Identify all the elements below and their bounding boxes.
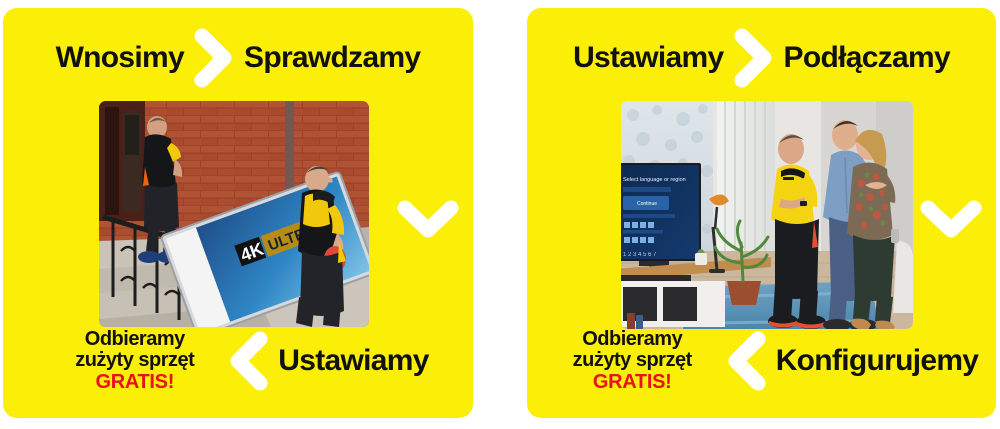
panel-left-top-row: Wnosimy Sprawdzamy	[3, 30, 473, 86]
svg-text:Continue: Continue	[637, 201, 657, 207]
step-label-ustawiamy-top: Ustawiamy	[573, 43, 723, 73]
pickup-line-1: Odbieramy	[47, 329, 222, 351]
svg-text:1 2 3 4 5 6 7: 1 2 3 4 5 6 7	[623, 252, 657, 258]
free-pickup-note: Odbieramy zużyty sprzęt GRATIS!	[47, 329, 222, 394]
step-label-konfigurujemy: Konfigurujemy	[776, 346, 979, 376]
chevron-left-icon	[724, 331, 772, 391]
service-panel-left: Wnosimy Sprawdzamy	[3, 8, 473, 418]
pickup-line-2: zużyty sprzęt	[47, 350, 222, 372]
pickup-line-2: zużyty sprzęt	[545, 350, 720, 372]
service-panel-right: Ustawiamy Podłączamy	[527, 8, 996, 418]
service-steps-banner: Wnosimy Sprawdzamy	[0, 0, 1000, 429]
photo-technician-configuring-tv: Select language or region Continue 1 2 3…	[621, 101, 913, 329]
chevron-left-icon	[226, 331, 274, 391]
step-label-wnosimy: Wnosimy	[56, 43, 184, 73]
pickup-line-1: Odbieramy	[545, 329, 720, 351]
svg-text:Select language or region: Select language or region	[623, 177, 686, 183]
step-label-podlaczamy: Podłączamy	[784, 43, 950, 73]
step-label-ustawiamy: Ustawiamy	[278, 346, 428, 376]
chevron-right-icon	[730, 28, 778, 88]
pickup-free-badge: GRATIS!	[545, 372, 720, 394]
chevron-right-icon	[190, 28, 238, 88]
photo-delivery-carrying-tv: 4K ULTRAHD	[99, 101, 369, 327]
chevron-down-icon	[916, 196, 986, 246]
panel-right-bottom-row: Odbieramy zużyty sprzęt GRATIS! Konfigur…	[527, 318, 996, 404]
pickup-free-badge: GRATIS!	[47, 372, 222, 394]
free-pickup-note: Odbieramy zużyty sprzęt GRATIS!	[545, 329, 720, 394]
step-label-sprawdzamy: Sprawdzamy	[244, 43, 420, 73]
panel-right-top-row: Ustawiamy Podłączamy	[527, 30, 996, 86]
chevron-down-icon	[393, 196, 463, 246]
panel-left-bottom-row: Odbieramy zużyty sprzęt GRATIS! Ustawiam…	[3, 318, 473, 404]
